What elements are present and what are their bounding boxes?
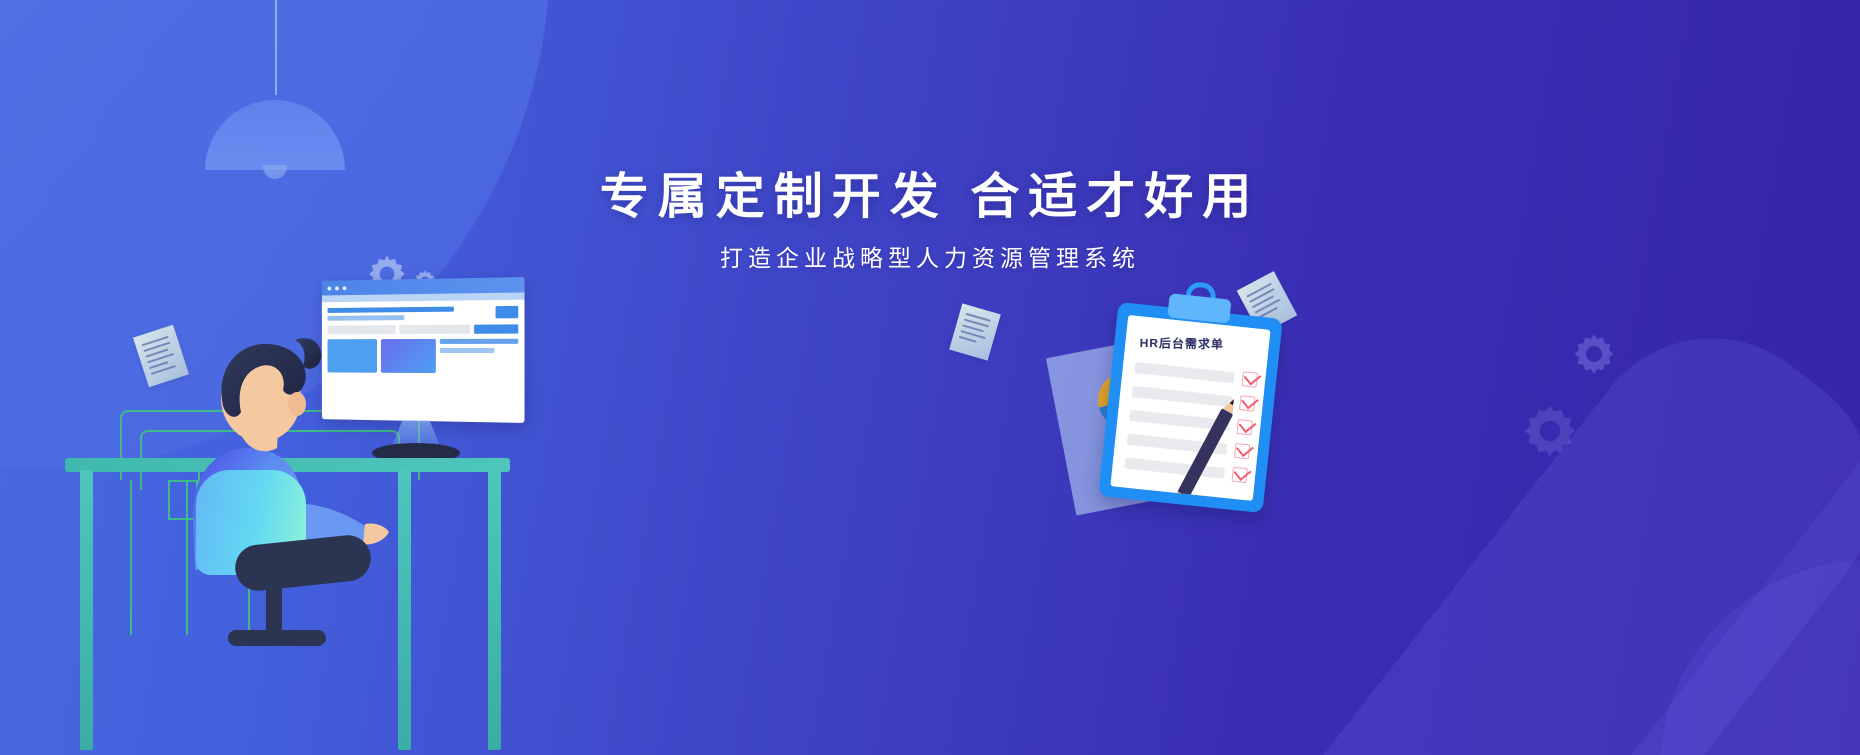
- wireframe-leg-1: [130, 480, 132, 635]
- clipboard-clip: [1167, 293, 1231, 323]
- clipboard-checkbox-1: [1242, 371, 1258, 387]
- window-dot-1: [328, 286, 332, 290]
- clipboard-illustration: HR后台需求单: [1060, 300, 1320, 530]
- office-chair-post: [266, 578, 282, 638]
- clipboard-checkbox-3: [1236, 419, 1252, 435]
- clipboard-line-1: [1134, 362, 1235, 383]
- desk-scene: [0, 0, 1860, 755]
- clipboard-line-5: [1124, 457, 1225, 478]
- clipboard-title: HR后台需求单: [1140, 334, 1225, 352]
- clipboard-checkbox-5: [1231, 467, 1247, 483]
- hero-banner: HR后台需求单 专属定制开发 合适才好用 打造企业战略型人力资源管理系统: [0, 0, 1860, 755]
- hr-requirement-clipboard: HR后台需求单: [1098, 302, 1282, 513]
- desk-leg-left: [80, 470, 93, 750]
- clipboard-page: HR后台需求单: [1110, 315, 1270, 501]
- window-dot-2: [335, 286, 339, 290]
- clipboard-checkbox-2: [1239, 395, 1255, 411]
- office-chair-base: [228, 630, 326, 646]
- clipboard-line-2: [1132, 386, 1233, 407]
- desk-leg-far-right: [488, 470, 501, 750]
- screen-row-header: [328, 306, 519, 321]
- window-dot-3: [343, 286, 347, 290]
- clipboard-checkbox-4: [1234, 443, 1250, 459]
